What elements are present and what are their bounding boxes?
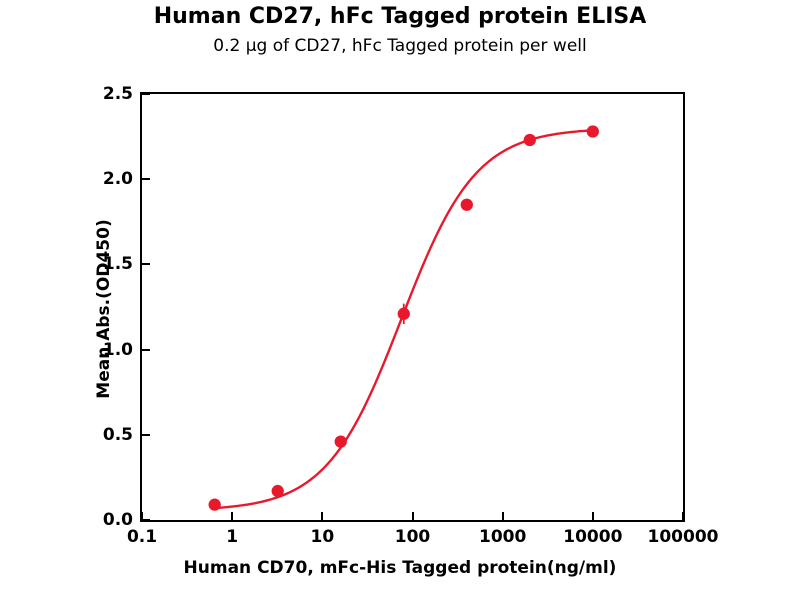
data-point	[398, 308, 410, 320]
data-point	[524, 134, 536, 146]
chart-figure: Human CD27, hFc Tagged protein ELISA 0.2…	[0, 0, 800, 600]
x-tick-label: 100000	[648, 527, 719, 547]
chart-title: Human CD27, hFc Tagged protein ELISA	[0, 4, 800, 29]
x-tick-label: 1000	[479, 527, 526, 547]
x-axis-label: Human CD70, mFc-His Tagged protein(ng/ml…	[0, 558, 800, 578]
data-points	[209, 125, 599, 510]
data-point	[209, 499, 221, 511]
data-point	[272, 485, 284, 497]
chart-subtitle: 0.2 µg of CD27, hFc Tagged protein per w…	[0, 36, 800, 56]
x-tick-label: 10	[310, 527, 334, 547]
data-point	[461, 199, 473, 211]
data-series-plot	[142, 94, 683, 520]
x-tick-label: 100	[395, 527, 431, 547]
plot-area: 0.0 0.5 1.0 1.5 2.0 2.5 0.1 1 10 100 100…	[140, 92, 685, 522]
data-point	[335, 435, 347, 447]
x-tick-label: 10000	[563, 527, 622, 547]
y-axis-label: Mean Abs.(OD450)	[90, 94, 118, 524]
x-tick-label: 0.1	[127, 527, 157, 547]
data-point	[587, 125, 599, 137]
x-tick-label: 1	[226, 527, 238, 547]
